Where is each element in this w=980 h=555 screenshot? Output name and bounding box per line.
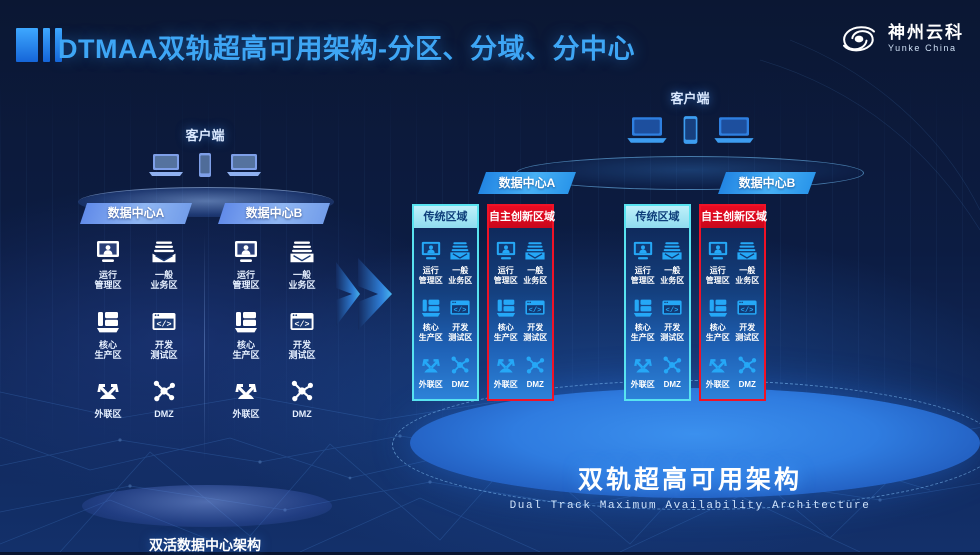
zone-label: 核心生产区 bbox=[416, 323, 446, 342]
panel-zone-grid: 运行管理区 一般业务区 核心生产区 </> bbox=[489, 228, 552, 399]
server-stack-icon bbox=[416, 295, 446, 321]
panel-zone-grid: 运行管理区 一般业务区 核心生产区 </> bbox=[626, 228, 689, 399]
zone-label: 外联区 bbox=[416, 380, 446, 390]
node-network-icon bbox=[658, 352, 688, 378]
panel-title: 传统区域 bbox=[414, 206, 477, 228]
zone-operations-management[interactable]: 运行管理区 bbox=[628, 238, 658, 285]
node-network-icon bbox=[274, 376, 330, 406]
zone-label: 一般业务区 bbox=[521, 266, 551, 285]
zone-dmz[interactable]: DMZ bbox=[521, 352, 551, 390]
left-datacenter-badges: 数据中心A 数据中心B bbox=[80, 203, 330, 224]
external-link-arrows-icon bbox=[628, 352, 658, 378]
monitor-user-icon bbox=[416, 238, 446, 264]
left-base-platform bbox=[82, 485, 332, 527]
zone-external-link[interactable]: 外联区 bbox=[80, 376, 136, 419]
right-device-row bbox=[550, 115, 830, 145]
zone-dmz[interactable]: DMZ bbox=[446, 352, 476, 390]
zone-external-link[interactable]: 外联区 bbox=[416, 352, 446, 390]
zone-operations-management[interactable]: 运行 管理区 bbox=[218, 237, 274, 291]
smartphone-icon bbox=[198, 152, 212, 178]
external-link-arrows-icon bbox=[80, 376, 136, 406]
zone-label: 核心生产区 bbox=[703, 323, 733, 342]
zone-label: 核心 生产区 bbox=[80, 340, 136, 361]
code-window-icon: </> bbox=[658, 295, 688, 321]
zone-external-link[interactable]: 外联区 bbox=[218, 376, 274, 419]
zone-label: 外联区 bbox=[491, 380, 521, 390]
svg-text:</>: </> bbox=[666, 307, 679, 315]
zone-general-business[interactable]: 一般业务区 bbox=[658, 238, 688, 285]
zone-label: DMZ bbox=[733, 380, 763, 390]
zone-external-link[interactable]: 外联区 bbox=[703, 352, 733, 390]
code-window-icon: </> bbox=[136, 307, 192, 337]
left-device-row bbox=[80, 152, 330, 178]
zone-label: DMZ bbox=[136, 409, 192, 419]
code-window-icon: </> bbox=[521, 295, 551, 321]
zone-label: 一般业务区 bbox=[446, 266, 476, 285]
left-clients-label: 客户端 bbox=[80, 125, 330, 144]
panel-dc-a-innovation[interactable]: 自主创新区域 运行管理区 一般业务区 bbox=[487, 204, 554, 401]
node-network-icon bbox=[446, 352, 476, 378]
zone-operations-management[interactable]: 运行管理区 bbox=[491, 238, 521, 285]
zone-label: 运行 管理区 bbox=[80, 270, 136, 291]
monitor-user-icon bbox=[491, 238, 521, 264]
left-architecture-diagram: 客户端 数据中心A 数据中心B bbox=[80, 125, 330, 455]
zone-core-production[interactable]: 核心生产区 bbox=[416, 295, 446, 342]
zone-label: 开发测试区 bbox=[521, 323, 551, 342]
zone-dev-test[interactable]: </> 开发测试区 bbox=[521, 295, 551, 342]
panel-title: 传统区域 bbox=[626, 206, 689, 228]
zone-external-link[interactable]: 外联区 bbox=[628, 352, 658, 390]
laptop-icon bbox=[713, 115, 755, 145]
node-network-icon bbox=[521, 352, 551, 378]
tab-datacenter-b[interactable]: 数据中心B bbox=[718, 172, 816, 194]
right-clients-label: 客户端 bbox=[550, 88, 830, 107]
zone-external-link[interactable]: 外联区 bbox=[491, 352, 521, 390]
zone-core-production[interactable]: 核心 生产区 bbox=[80, 307, 136, 361]
zone-label: 运行管理区 bbox=[703, 266, 733, 285]
zone-label: 核心 生产区 bbox=[218, 340, 274, 361]
zone-dev-test[interactable]: </> 开发测试区 bbox=[446, 295, 476, 342]
code-window-icon: </> bbox=[446, 295, 476, 321]
panel-zone-grid: 运行管理区 一般业务区 核心生产区 </> bbox=[414, 228, 477, 399]
right-clients-group: 客户端 bbox=[550, 88, 830, 145]
node-network-icon bbox=[733, 352, 763, 378]
zone-label: DMZ bbox=[521, 380, 551, 390]
panel-title: 自主创新区域 bbox=[489, 206, 552, 228]
external-link-arrows-icon bbox=[703, 352, 733, 378]
logo-text-en: Yunke China bbox=[888, 44, 964, 53]
panel-dc-b-innovation[interactable]: 自主创新区域 运行管理区 一般业务区 bbox=[699, 204, 766, 401]
inbox-icon bbox=[274, 237, 330, 267]
left-datacenter-a-zones: 运行 管理区 一般 业务区 bbox=[80, 237, 192, 420]
zone-label: DMZ bbox=[658, 380, 688, 390]
monitor-user-icon bbox=[80, 237, 136, 267]
zone-label: 开发 测试区 bbox=[274, 340, 330, 361]
zone-label: 开发测试区 bbox=[733, 323, 763, 342]
svg-text:</>: </> bbox=[294, 319, 309, 329]
zone-dmz[interactable]: DMZ bbox=[274, 376, 330, 419]
left-clients-group: 客户端 bbox=[80, 125, 330, 178]
zone-label: 核心生产区 bbox=[628, 323, 658, 342]
zone-general-business[interactable]: 一般 业务区 bbox=[274, 237, 330, 291]
page-header: DTMAA双轨超高可用架构-分区、分域、分中心 神州云科 Yunke China bbox=[0, 0, 980, 88]
galaxy-swirl-icon bbox=[839, 22, 879, 56]
left-diagram-caption: 双活数据中心架构 bbox=[80, 535, 330, 555]
zone-general-business[interactable]: 一般业务区 bbox=[446, 238, 476, 285]
zone-operations-management[interactable]: 运行管理区 bbox=[416, 238, 446, 285]
zone-label: 开发测试区 bbox=[658, 323, 688, 342]
code-window-icon: </> bbox=[733, 295, 763, 321]
zone-label: 一般业务区 bbox=[658, 266, 688, 285]
inbox-icon bbox=[136, 237, 192, 267]
zone-label: 外联区 bbox=[218, 409, 274, 419]
monitor-user-icon bbox=[218, 237, 274, 267]
zone-label: 运行管理区 bbox=[416, 266, 446, 285]
server-stack-icon bbox=[628, 295, 658, 321]
left-datacenter-b-zones: 运行 管理区 一般 业务区 bbox=[218, 237, 330, 420]
zone-label: 一般 业务区 bbox=[136, 270, 192, 291]
zone-label: 运行管理区 bbox=[491, 266, 521, 285]
zone-label: 开发测试区 bbox=[446, 323, 476, 342]
right-zone-panels: 传统区域 运行管理区 一般业务区 bbox=[400, 204, 980, 401]
inbox-icon bbox=[446, 238, 476, 264]
laptop-icon bbox=[148, 152, 184, 178]
zone-label: 运行管理区 bbox=[628, 266, 658, 285]
svg-text:</>: </> bbox=[156, 319, 171, 329]
caption-chinese: 双轨超高可用架构 bbox=[400, 460, 980, 496]
svg-text:</>: </> bbox=[529, 307, 542, 315]
header-accent-bars-icon bbox=[16, 28, 62, 62]
panel-dc-b-traditional[interactable]: 传统区域 运行管理区 一般业务区 bbox=[624, 204, 691, 401]
zone-operations-management[interactable]: 运行 管理区 bbox=[80, 237, 136, 291]
left-datacenter-columns: 运行 管理区 一般 业务区 bbox=[80, 237, 330, 420]
zone-dev-test[interactable]: </> 开发 测试区 bbox=[274, 307, 330, 361]
caption-english: Dual Track Maximum Availability Architec… bbox=[400, 500, 980, 512]
zone-label: 外联区 bbox=[703, 380, 733, 390]
zone-dev-test[interactable]: </> 开发测试区 bbox=[658, 295, 688, 342]
monitor-user-icon bbox=[703, 238, 733, 264]
server-stack-icon bbox=[80, 307, 136, 337]
monitor-user-icon bbox=[628, 238, 658, 264]
svg-text:</>: </> bbox=[454, 307, 467, 315]
zone-label: 外联区 bbox=[80, 409, 136, 419]
smartphone-icon bbox=[682, 115, 699, 145]
zone-dev-test[interactable]: </> 开发 测试区 bbox=[136, 307, 192, 361]
right-architecture-diagram: 客户端 数据中心A 数据中心B 传统区域 bbox=[400, 88, 980, 548]
zone-operations-management[interactable]: 运行管理区 bbox=[703, 238, 733, 285]
inbox-icon bbox=[733, 238, 763, 264]
brand-logo: 神州云科 Yunke China bbox=[839, 22, 964, 56]
zone-general-business[interactable]: 一般业务区 bbox=[521, 238, 551, 285]
zone-dmz[interactable]: DMZ bbox=[658, 352, 688, 390]
external-link-arrows-icon bbox=[491, 352, 521, 378]
inbox-icon bbox=[521, 238, 551, 264]
zone-core-production[interactable]: 核心生产区 bbox=[491, 295, 521, 342]
inbox-icon bbox=[658, 238, 688, 264]
zone-core-production[interactable]: 核心生产区 bbox=[703, 295, 733, 342]
panel-dc-a-traditional[interactable]: 传统区域 运行管理区 一般业务区 bbox=[412, 204, 479, 401]
zone-dmz[interactable]: DMZ bbox=[733, 352, 763, 390]
zone-label: 一般 业务区 bbox=[274, 270, 330, 291]
external-link-arrows-icon bbox=[416, 352, 446, 378]
right-diagram-caption: 双轨超高可用架构 Dual Track Maximum Availability… bbox=[400, 460, 980, 512]
zone-dmz[interactable]: DMZ bbox=[136, 376, 192, 419]
zone-dev-test[interactable]: </> 开发测试区 bbox=[733, 295, 763, 342]
panel-zone-grid: 运行管理区 一般业务区 核心生产区 </> bbox=[701, 228, 764, 399]
double-chevron-right-icon bbox=[330, 252, 410, 336]
server-stack-icon bbox=[491, 295, 521, 321]
server-stack-icon bbox=[218, 307, 274, 337]
panel-title: 自主创新区域 bbox=[701, 206, 764, 228]
laptop-icon bbox=[626, 115, 668, 145]
left-datacenter-b-badge[interactable]: 数据中心B bbox=[218, 203, 330, 224]
code-window-icon: </> bbox=[274, 307, 330, 337]
zone-label: DMZ bbox=[446, 380, 476, 390]
external-link-arrows-icon bbox=[218, 376, 274, 406]
zone-label: 外联区 bbox=[628, 380, 658, 390]
left-datacenter-a-badge[interactable]: 数据中心A bbox=[80, 203, 192, 224]
svg-text:</>: </> bbox=[741, 307, 754, 315]
zone-core-production[interactable]: 核心 生产区 bbox=[218, 307, 274, 361]
zone-label: DMZ bbox=[274, 409, 330, 419]
tab-datacenter-a[interactable]: 数据中心A bbox=[478, 172, 576, 194]
zone-label: 核心生产区 bbox=[491, 323, 521, 342]
laptop-icon bbox=[226, 152, 262, 178]
zone-general-business[interactable]: 一般业务区 bbox=[733, 238, 763, 285]
zone-label: 一般业务区 bbox=[733, 266, 763, 285]
zone-core-production[interactable]: 核心生产区 bbox=[628, 295, 658, 342]
logo-text-cn: 神州云科 bbox=[888, 24, 964, 42]
zone-label: 开发 测试区 bbox=[136, 340, 192, 361]
server-stack-icon bbox=[703, 295, 733, 321]
page-title: DTMAA双轨超高可用架构-分区、分域、分中心 bbox=[58, 27, 635, 66]
node-network-icon bbox=[136, 376, 192, 406]
zone-label: 运行 管理区 bbox=[218, 270, 274, 291]
zone-general-business[interactable]: 一般 业务区 bbox=[136, 237, 192, 291]
